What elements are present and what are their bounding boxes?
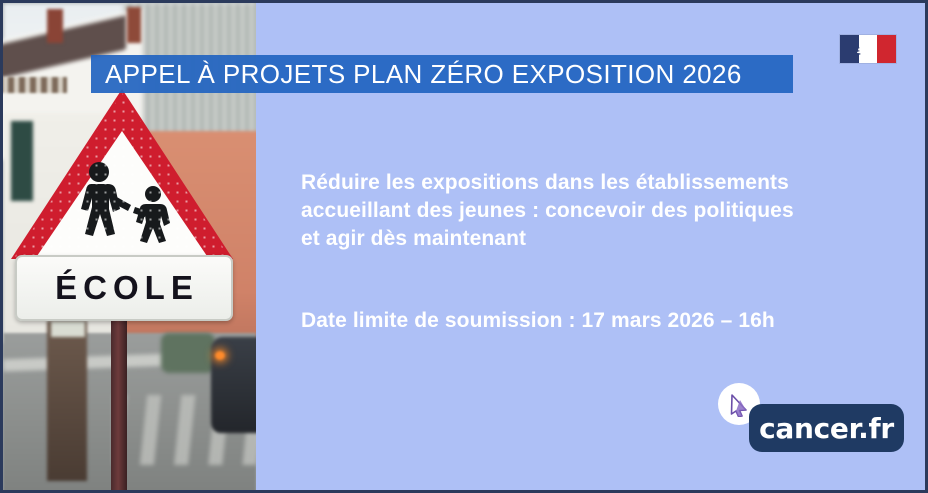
cancer-fr-logo-text: cancer.fr [759, 412, 894, 445]
pedestrian-pictogram-icon [65, 161, 185, 253]
republique-francaise-logo [839, 34, 897, 64]
description-line-2: accueillant des jeunes : concevoir des p… [301, 197, 901, 225]
photo-street-furniture-top [51, 321, 85, 337]
cancer-fr-logo[interactable]: cancer.fr [749, 404, 904, 452]
photo-street-furniture [47, 321, 87, 481]
title-banner: APPEL À PROJETS PLAN ZÉRO EXPOSITION 202… [91, 55, 793, 93]
description-line-3: et agir dès maintenant [301, 225, 901, 253]
photo-car-taillight [215, 351, 225, 360]
main-description: Réduire les expositions dans les établis… [301, 169, 901, 253]
ecole-plate-label: ÉCOLE [49, 269, 199, 307]
school-crossing-warning-sign [11, 89, 233, 261]
photo-chimney [47, 9, 63, 43]
flag-band-white [859, 35, 878, 63]
photo-chimney-secondary [127, 7, 141, 43]
slide-root: ÉCOLE APPEL À PROJETS PLAN ZÉRO EXPOSITI… [0, 0, 928, 493]
submission-deadline: Date limite de soumission : 17 mars 2026… [301, 309, 775, 333]
photo-hedge [161, 333, 215, 373]
sign-pole [111, 303, 127, 493]
marianne-profile-icon [852, 38, 874, 60]
page-title: APPEL À PROJETS PLAN ZÉRO EXPOSITION 202… [91, 59, 742, 90]
flag-band-red [877, 35, 896, 63]
description-line-1: Réduire les expositions dans les établis… [301, 169, 901, 197]
ecole-name-plate: ÉCOLE [15, 255, 233, 321]
